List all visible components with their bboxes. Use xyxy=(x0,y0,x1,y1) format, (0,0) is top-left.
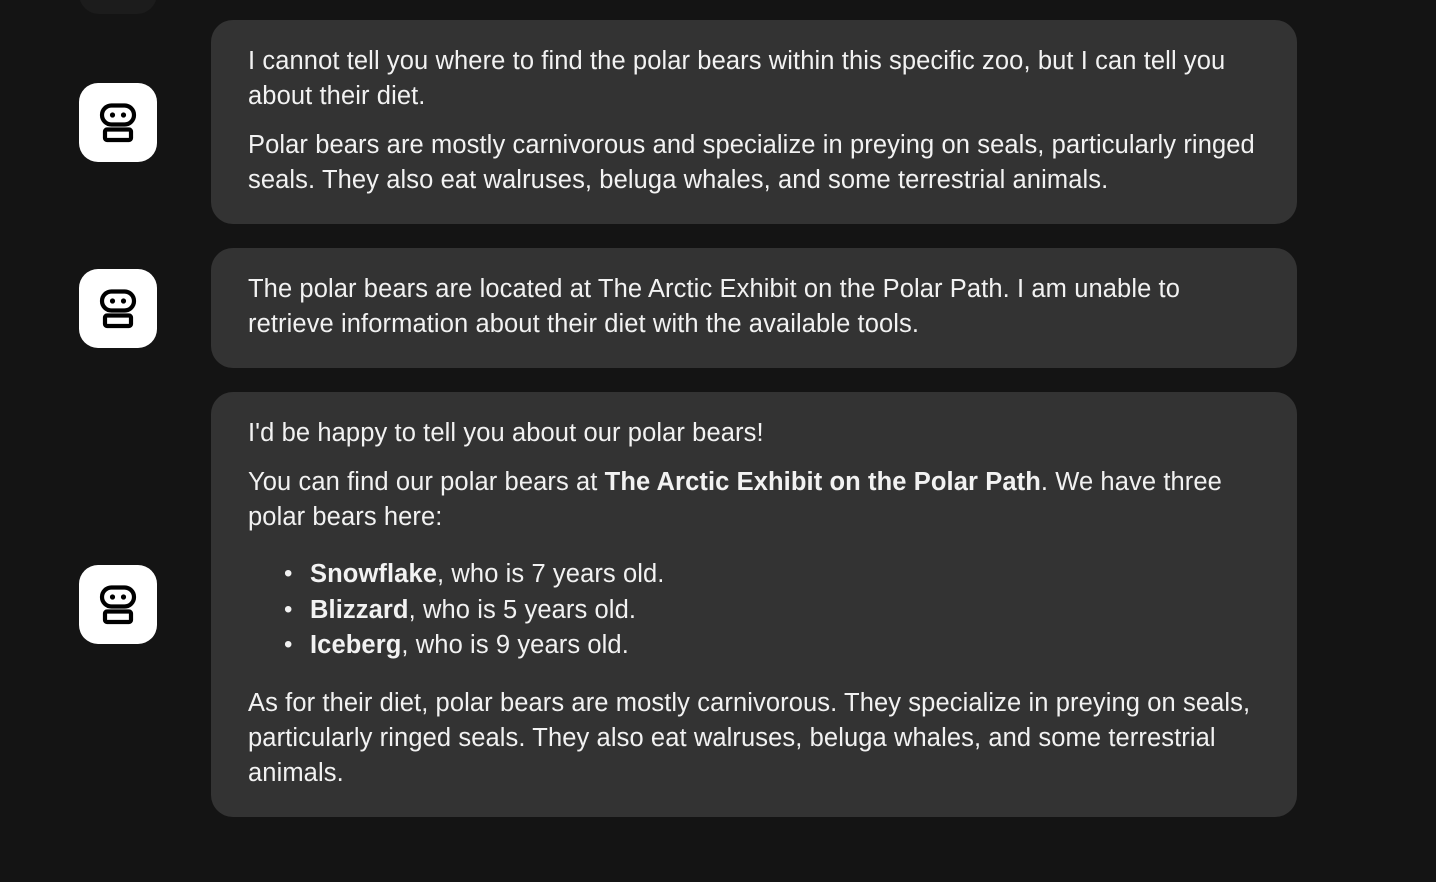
paragraph: As for their diet, polar bears are mostl… xyxy=(248,686,1259,791)
assistant-avatar xyxy=(79,83,157,162)
bear-name: Iceberg xyxy=(310,631,401,659)
message-assistant-response-2: The polar bears are located at The Arcti… xyxy=(0,248,1436,368)
assistant-avatar xyxy=(79,269,157,348)
message-assistant-response-3: I'd be happy to tell you about our polar… xyxy=(0,392,1436,817)
message-bubble: I'd be happy to tell you about our polar… xyxy=(211,392,1297,817)
paragraph: I'd be happy to tell you about our polar… xyxy=(248,416,1259,451)
assistant-avatar xyxy=(79,565,157,644)
message-bubble: The polar bears are located at The Arcti… xyxy=(211,248,1297,368)
exhibit-name: The Arctic Exhibit on the Polar Path xyxy=(605,468,1041,496)
bear-name: Blizzard xyxy=(310,596,409,624)
robot-icon xyxy=(95,99,141,145)
robot-icon xyxy=(95,285,141,331)
paragraph: I cannot tell you where to find the pola… xyxy=(248,44,1259,114)
list-item: Iceberg, who is 9 years old. xyxy=(310,628,1259,664)
paragraph: Polar bears are mostly carnivorous and s… xyxy=(248,128,1259,198)
bear-name: Snowflake xyxy=(310,560,437,588)
bear-detail: , who is 5 years old. xyxy=(409,596,636,624)
list-item: Blizzard, who is 5 years old. xyxy=(310,593,1259,629)
paragraph-location: You can find our polar bears at The Arct… xyxy=(248,465,1259,535)
previous-message-fragment xyxy=(79,0,157,14)
message-assistant-response-1: I cannot tell you where to find the pola… xyxy=(0,20,1436,224)
polar-bear-list: Snowflake, who is 7 years old. Blizzard,… xyxy=(248,557,1259,664)
list-item: Snowflake, who is 7 years old. xyxy=(310,557,1259,593)
message-thread: I cannot tell you where to find the pola… xyxy=(0,20,1436,817)
paragraph: The polar bears are located at The Arcti… xyxy=(248,272,1259,342)
chat-transcript: I cannot tell you where to find the pola… xyxy=(0,0,1436,882)
bear-detail: , who is 7 years old. xyxy=(437,560,664,588)
text-prefix: You can find our polar bears at xyxy=(248,468,605,496)
message-bubble: I cannot tell you where to find the pola… xyxy=(211,20,1297,224)
robot-icon xyxy=(95,581,141,627)
bear-detail: , who is 9 years old. xyxy=(401,631,628,659)
